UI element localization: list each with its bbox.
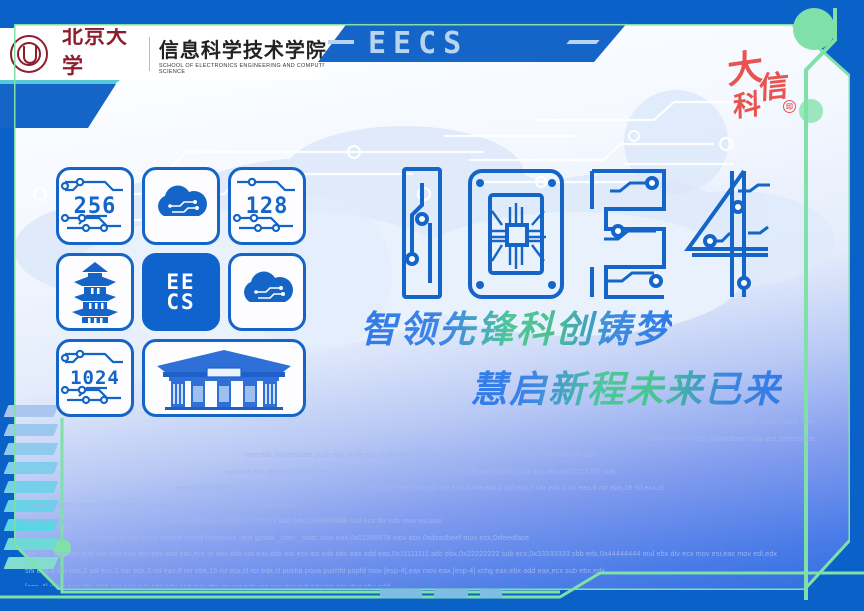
tile-cloud-1[interactable] [142, 167, 220, 245]
tile-gate[interactable] [142, 339, 306, 417]
code-line: eax,0x12345678 mov ebx,0xdeadbeef mov ec… [25, 431, 815, 448]
code-line: rcr edx,cl pusha popa pushfd popfd mov [… [25, 497, 815, 514]
eecs-banner-text: EECS [368, 26, 468, 61]
banner-dash-right [566, 40, 599, 44]
tile-256[interactable]: 256 [56, 167, 134, 245]
peking-university-seal-icon [10, 35, 48, 73]
slogan-line-1: 智领先锋科创铸梦 [360, 299, 672, 353]
school-name-cn: 信息科学技术学院 [159, 34, 338, 63]
tile-cloud-2[interactable] [228, 253, 306, 331]
university-gate-icon [149, 346, 299, 410]
university-name-cn: 北京大学 [62, 20, 140, 80]
school-name-en: SCHOOL OF ELECTRONICS ENGINEERING AND CO… [159, 63, 338, 75]
code-line: mov edx,0xcafebabe push eax push ebx pus… [25, 447, 815, 464]
tile-128-label: 128 [246, 194, 289, 219]
green-dot-decoration [799, 99, 823, 123]
code-line: [esp-4] xchg eax,ebx add eax,ecx sub ebx… [25, 579, 815, 586]
tile-eecs-label: EECS [166, 272, 195, 312]
slogan-line-2: 慧启新程未来已来 [470, 359, 782, 413]
calligraphy-seal: 大 信 科 印 [725, 40, 801, 118]
poster-root: 北京大学 PEKING UNIVERSITY 信息科学技术学院 SCHOOL O… [0, 0, 864, 611]
pagoda-icon [64, 260, 126, 324]
tile-128[interactable]: 128 [228, 167, 306, 245]
code-line: ecx,0x33333333 sbb edx,0x44444444 mul eb… [25, 480, 815, 497]
code-line: section .text global _start _start: mov [25, 414, 815, 431]
cloud-circuit-icon [150, 182, 212, 230]
tile-256-label: 256 [74, 194, 117, 219]
header-ribbon: 北京大学 PEKING UNIVERSITY 信息科学技术学院 SCHOOL O… [0, 28, 338, 80]
code-line: shl eax,4 shr ebx,2 sal ecx,1 sar edx,3 … [25, 563, 815, 580]
tile-pagoda[interactable] [56, 253, 134, 331]
tile-1024[interactable]: 1024 [56, 339, 134, 417]
assembly-code-block: section .text global _start _start: mov … [25, 414, 815, 586]
code-line: ror ebx,8 rcl ecx,cl rcr edx,cl pusha po… [25, 530, 815, 547]
banner-dash-left [328, 40, 354, 44]
header-divider [149, 37, 150, 71]
cloud-circuit-icon [236, 268, 298, 316]
calligraphy-char-3: 科 [733, 82, 762, 126]
hero-1024-graphic [392, 163, 782, 305]
calligraphy-stamp-icon: 印 [783, 100, 796, 113]
code-line: eax dec ebx add eax,0x55555555 adc ebx,0… [25, 513, 815, 530]
code-line: sub ecx,edx and eax,ecx or ebx,edx xor e… [25, 464, 815, 481]
icon-tile-grid: 256 [56, 167, 306, 419]
tile-1024-label: 1024 [70, 367, 120, 389]
code-line: pop ecx pop edx add eax,ebx sub ecx,edx … [25, 546, 815, 563]
tile-eecs[interactable]: EECS [142, 253, 220, 331]
